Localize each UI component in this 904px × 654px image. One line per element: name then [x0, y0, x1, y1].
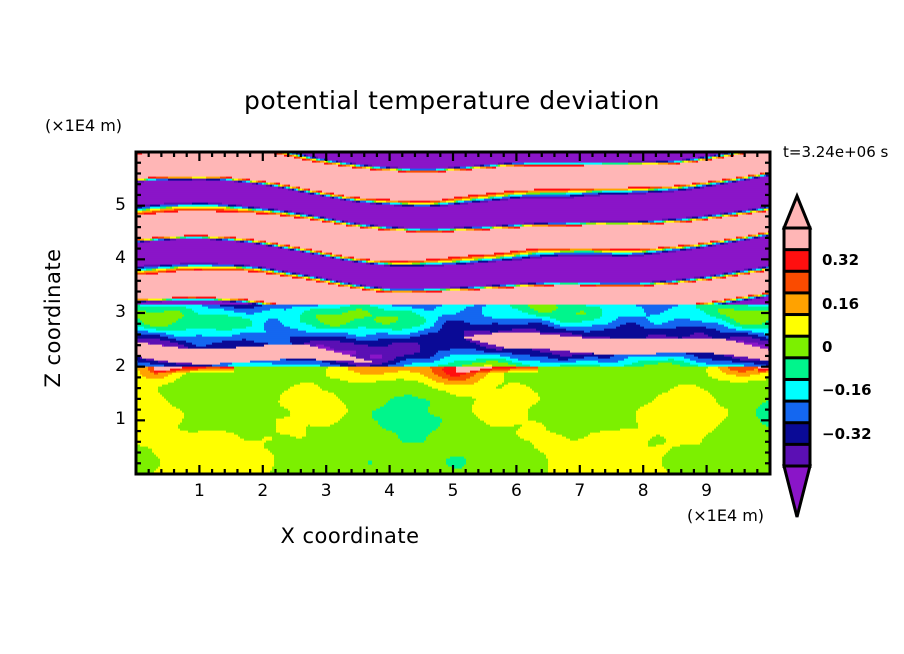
x-tick-label: 6	[496, 481, 536, 501]
colorbar-tick-label: 0.16	[822, 295, 859, 313]
x-tick-label: 4	[370, 481, 410, 501]
x-tick-label: 2	[243, 481, 283, 501]
x-tick-label: 5	[433, 481, 473, 501]
y-tick-label: 4	[100, 248, 126, 268]
x-tick-label: 3	[306, 481, 346, 501]
contour-field	[136, 152, 771, 475]
x-tick-label: 1	[179, 481, 219, 501]
contour-plot	[0, 0, 904, 654]
colorbar	[784, 196, 810, 517]
x-tick-label: 7	[560, 481, 600, 501]
colorbar-tick-label: 0.32	[822, 251, 859, 269]
colorbar-tick-label: −0.32	[822, 425, 872, 443]
y-tick-label: 5	[100, 195, 126, 215]
x-tick-label: 8	[623, 481, 663, 501]
x-tick-label: 9	[687, 481, 727, 501]
y-tick-label: 3	[100, 302, 126, 322]
colorbar-tick-label: −0.16	[822, 381, 872, 399]
figure-canvas: potential temperature deviation (×1E4 m)…	[0, 0, 904, 654]
y-tick-label: 2	[100, 356, 126, 376]
colorbar-tick-label: 0	[822, 338, 832, 356]
y-tick-label: 1	[100, 409, 126, 429]
